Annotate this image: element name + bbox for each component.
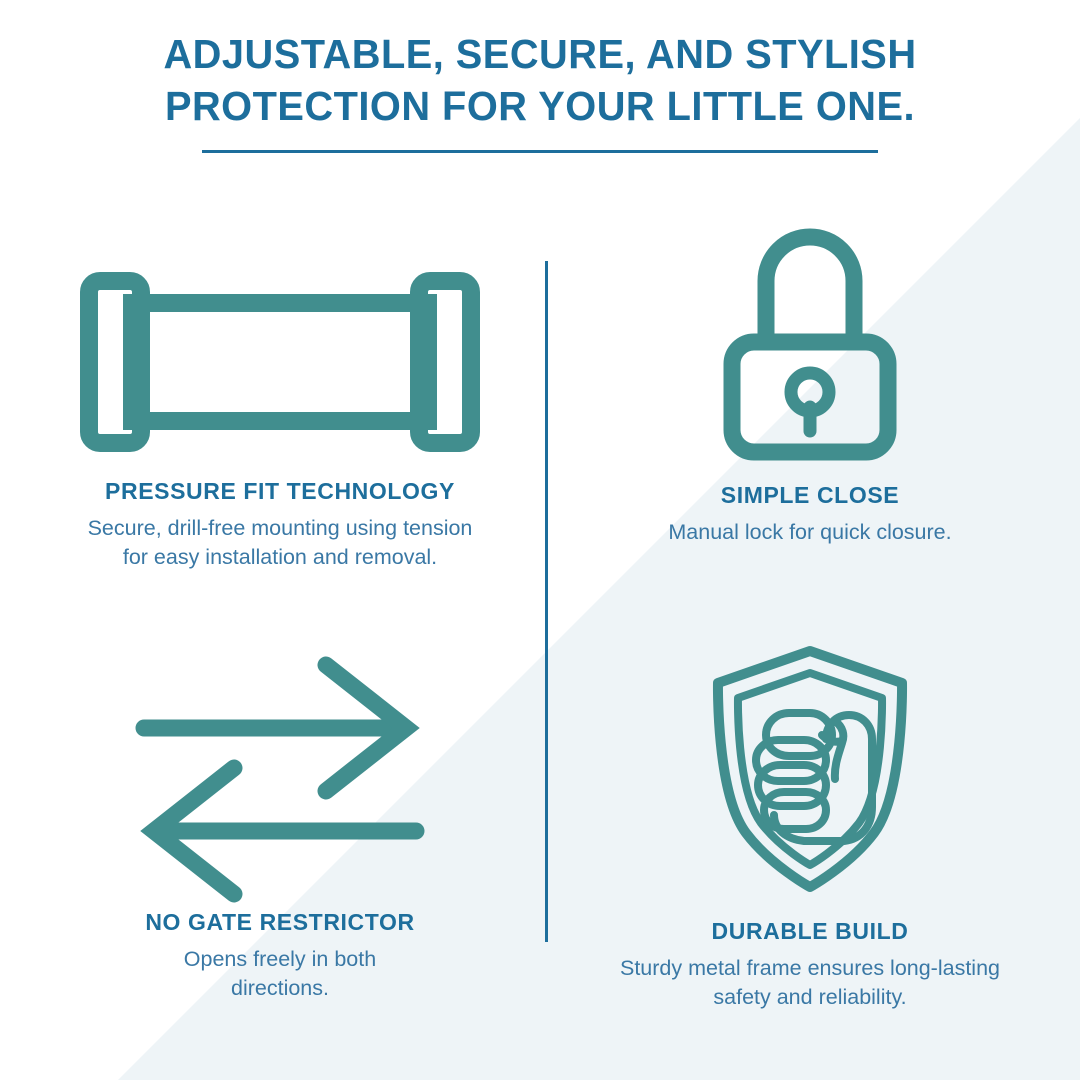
description-line-1: Secure, drill-free mounting using tensio… [20,514,540,543]
icon-container [560,637,1060,900]
feature-simple-close: SIMPLE CLOSE Manual lock for quick closu… [560,205,1060,547]
feature-no-gate-restrictor: NO GATE RESTRICTOR Opens freely in both … [20,640,540,1003]
title-underline-rule [202,150,878,153]
feature-pressure-fit: PRESSURE FIT TECHNOLOGY Secure, drill-fr… [20,262,540,572]
padlock-icon [710,209,910,459]
feature-description: Opens freely in both directions. [20,945,540,1003]
feature-description: Manual lock for quick closure. [560,518,1060,547]
feature-durable-build: DURABLE BUILD Sturdy metal frame ensures… [560,637,1060,1012]
page-title-line-2: PROTECTION FOR YOUR LITTLE ONE. [16,80,1064,132]
feature-title: DURABLE BUILD [560,918,1060,945]
feature-description: Secure, drill-free mounting using tensio… [20,514,540,572]
pressure-roller-icon [80,272,480,452]
description-line-1: Opens freely in both [20,945,540,974]
infographic-canvas: ADJUSTABLE, SECURE, AND STYLISH PROTECTI… [0,0,1080,1080]
description-line-2: safety and reliability. [560,983,1060,1012]
description-line-2: for easy installation and removal. [20,543,540,572]
feature-title: NO GATE RESTRICTOR [20,909,540,936]
feature-title: SIMPLE CLOSE [560,482,1060,509]
content-layer: ADJUSTABLE, SECURE, AND STYLISH PROTECTI… [0,0,1080,1080]
feature-title: PRESSURE FIT TECHNOLOGY [20,478,540,505]
icon-container [560,205,1060,463]
feature-description: Sturdy metal frame ensures long-lasting … [560,954,1060,1012]
two-way-arrows-icon [130,655,430,875]
vertical-divider [545,261,548,942]
icon-container [20,262,540,462]
description-line-1: Manual lock for quick closure. [560,518,1060,547]
page-title-line-1: ADJUSTABLE, SECURE, AND STYLISH [16,28,1064,80]
icon-container [20,640,540,890]
page-header: ADJUSTABLE, SECURE, AND STYLISH PROTECTI… [0,28,1080,132]
description-line-2: directions. [20,974,540,1003]
description-line-1: Sturdy metal frame ensures long-lasting [560,954,1060,983]
shield-fist-icon [704,643,916,895]
